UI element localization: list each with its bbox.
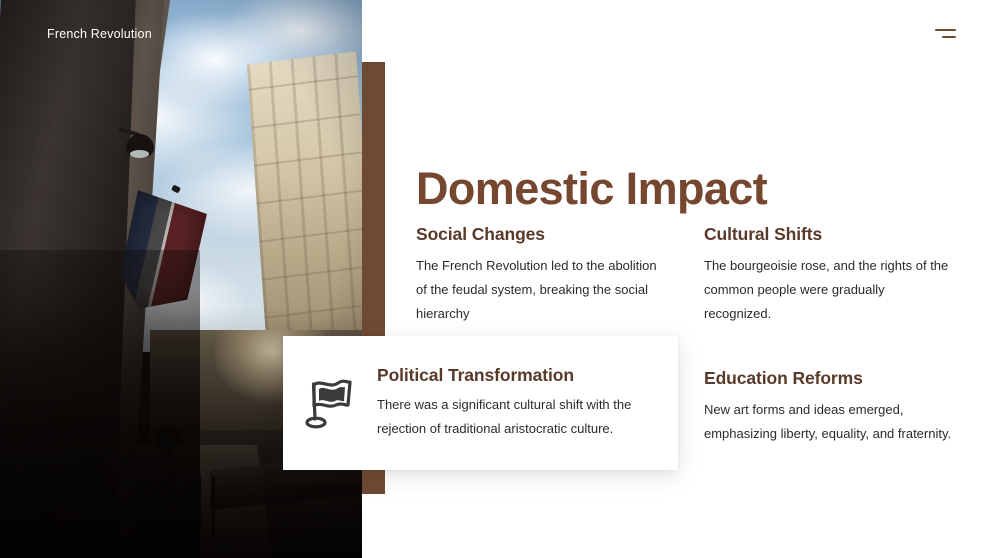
block-title: Education Reforms xyxy=(704,368,954,389)
block-body: The bourgeoisie rose, and the rights of … xyxy=(704,254,954,325)
block-title: Social Changes xyxy=(416,224,666,245)
page-title: Domestic Impact xyxy=(416,166,767,211)
block-title: Cultural Shifts xyxy=(704,224,954,245)
hamburger-line-top xyxy=(935,29,956,31)
slide: French Revolution Domestic Impact Social… xyxy=(0,0,993,558)
background-photo xyxy=(0,0,362,558)
block-body: New art forms and ideas emerged, emphasi… xyxy=(704,398,954,446)
hamburger-line-bottom xyxy=(942,36,956,38)
block-education-reforms: Education Reforms New art forms and idea… xyxy=(704,368,954,446)
block-body: There was a significant cultural shift w… xyxy=(377,393,632,441)
flag-icon xyxy=(283,375,377,431)
photo-vignette xyxy=(0,0,362,558)
block-title: Political Transformation xyxy=(377,365,660,386)
highlight-card[interactable]: Political Transformation There was a sig… xyxy=(283,336,678,470)
block-body: The French Revolution led to the aboliti… xyxy=(416,254,666,325)
content-area: Domestic Impact Social Changes The Frenc… xyxy=(416,0,976,558)
slide-label: French Revolution xyxy=(47,27,152,41)
hamburger-menu-icon[interactable] xyxy=(934,25,956,41)
block-social-changes: Social Changes The French Revolution led… xyxy=(416,224,666,325)
block-cultural-shifts: Cultural Shifts The bourgeoisie rose, an… xyxy=(704,224,954,325)
card-text: Political Transformation There was a sig… xyxy=(377,365,678,441)
